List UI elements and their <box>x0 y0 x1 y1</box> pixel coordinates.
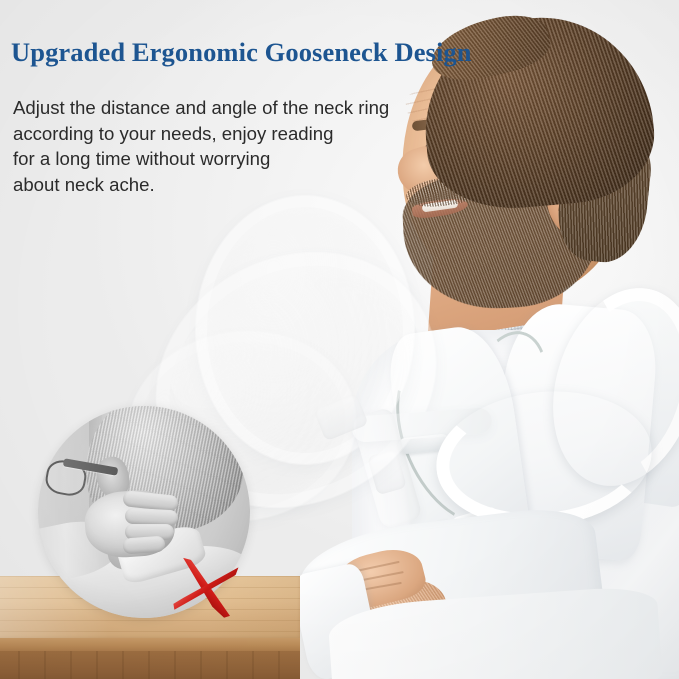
body-description: Adjust the distance and angle of the nec… <box>13 95 389 197</box>
product-infographic-canvas: Upgraded Ergonomic Gooseneck Design Adju… <box>0 0 679 679</box>
page-title: Upgraded Ergonomic Gooseneck Design <box>11 38 472 67</box>
